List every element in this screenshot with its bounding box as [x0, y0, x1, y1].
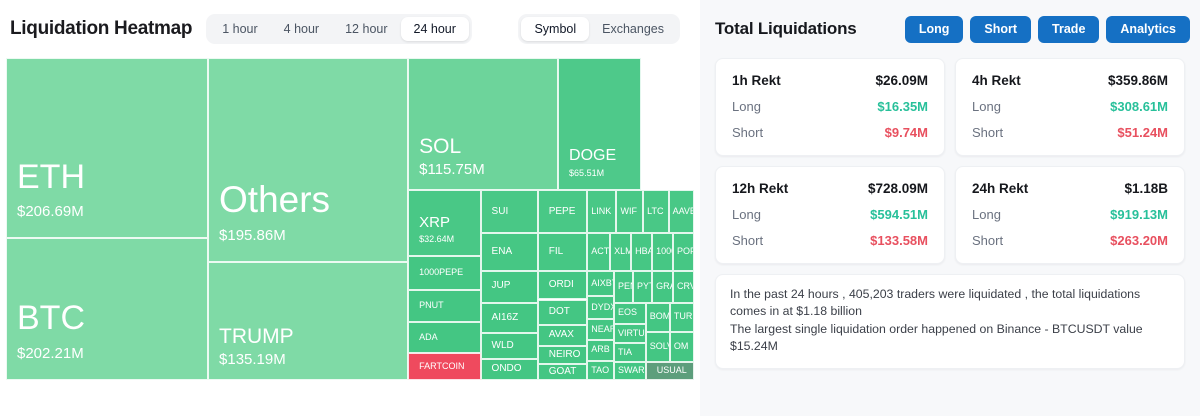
treemap-tile-xrp[interactable]: XRP$32.64M [408, 190, 480, 256]
treemap-tile-name: XRP [419, 215, 469, 231]
treemap-tile-name: GOAT [549, 367, 577, 378]
treemap-tile-eos[interactable]: EOS [614, 303, 646, 324]
treemap-tile-name: DOGE [569, 148, 630, 165]
treemap-tile-name: ORDI [549, 280, 577, 291]
rekt-card-row: Short$9.74M [732, 125, 928, 140]
treemap-tile-name: SUI [492, 207, 527, 218]
rekt-card-row: 1h Rekt$26.09M [732, 73, 928, 88]
treemap-tile-act[interactable]: ACT [587, 233, 610, 270]
treemap-tile-ena[interactable]: ENA [481, 233, 538, 270]
treemap-tile-name: SOLV [650, 342, 666, 351]
treemap-tile-pengu[interactable]: PENGU [614, 271, 633, 303]
treemap-tile-name: GRASS [656, 282, 669, 291]
liquidation-dashboard: Liquidation Heatmap 1 hour4 hour12 hour2… [0, 0, 1200, 416]
rekt-card-4h[interactable]: 4h Rekt$359.86MLong$308.61MShort$51.24M [955, 58, 1185, 156]
treemap-tile-name: FIL [549, 247, 577, 258]
page-title: Liquidation Heatmap [10, 18, 192, 40]
rekt-card-row: Short$133.58M [732, 233, 928, 248]
treemap-tile-name: 1000PEPE [419, 268, 469, 277]
treemap-tile-jup[interactable]: JUP [481, 271, 538, 303]
rekt-card-row: Long$594.51M [732, 207, 928, 222]
summary-line-1: In the past 24 hours , 405,203 traders w… [730, 286, 1170, 321]
rekt-card-short-label: Short [972, 125, 1003, 140]
treemap-tile-name: DOT [549, 307, 577, 318]
treemap-tile-name: PNUT [419, 301, 469, 310]
rekt-card-12h[interactable]: 12h Rekt$728.09MLong$594.51MShort$133.58… [715, 166, 945, 264]
treemap-tile-sui[interactable]: SUI [481, 190, 538, 233]
rekt-card-title: 1h Rekt [732, 73, 781, 88]
treemap-tile-name: OM [674, 342, 690, 351]
treemap-tile-ondo[interactable]: ONDO [481, 359, 538, 380]
analytics-button[interactable]: Analytics [1106, 16, 1190, 43]
treemap-tile-name: VIRTUAL [618, 329, 642, 338]
long-button[interactable]: Long [905, 16, 964, 43]
treemap-tile-tao[interactable]: TAO [587, 361, 614, 380]
treemap-tile-value: $202.21M [17, 345, 197, 363]
rekt-card-short-value: $9.74M [885, 125, 928, 140]
treemap-tile-doge[interactable]: DOGE$65.51M [558, 58, 641, 190]
rekt-card-row: Long$16.35M [732, 99, 928, 114]
rekt-card-title: 12h Rekt [732, 181, 788, 196]
timeframe-tab-4-hour[interactable]: 4 hour [271, 17, 332, 41]
treemap-tile-swarms[interactable]: SWARMS [614, 362, 646, 380]
treemap-tile-wif[interactable]: WIF [616, 190, 643, 233]
treemap-tile-dydx[interactable]: DYDX [587, 296, 614, 319]
rekt-card-long-label: Long [732, 207, 761, 222]
treemap-tile-bome[interactable]: BOME [646, 303, 670, 332]
rekt-card-row: 24h Rekt$1.18B [972, 181, 1168, 196]
rekt-card-1h[interactable]: 1h Rekt$26.09MLong$16.35MShort$9.74M [715, 58, 945, 156]
rekt-card-grid: 1h Rekt$26.09MLong$16.35MShort$9.74M4h R… [710, 58, 1190, 264]
rekt-card-total: $1.18B [1124, 181, 1168, 196]
treemap-tile-fil[interactable]: FIL [538, 233, 588, 270]
treemap-tile-value: $115.75M [419, 161, 547, 179]
treemap-tile-wld[interactable]: WLD [481, 333, 538, 359]
treemap-tile-others[interactable]: Others$195.86M [208, 58, 408, 262]
rekt-card-row: Short$51.24M [972, 125, 1168, 140]
rekt-card-short-label: Short [732, 125, 763, 140]
treemap-tile-aixbt[interactable]: AIXBT [587, 271, 614, 297]
treemap-tile-name: WIF [620, 207, 639, 216]
rekt-card-total: $26.09M [875, 73, 928, 88]
treemap-tile-name: PYTH [637, 282, 648, 291]
treemap-tile-link[interactable]: LINK [587, 190, 616, 233]
treemap-tile-name: LTC [647, 207, 664, 216]
liquidations-title: Total Liquidations [715, 19, 857, 39]
treemap-tile-name: NEIRO [549, 350, 577, 361]
treemap-tile-name: AI16Z [492, 313, 527, 324]
treemap-tile-name: ETH [17, 160, 197, 196]
view-mode-tab-symbol[interactable]: Symbol [521, 17, 589, 41]
treemap-tile-name: TRUMP [219, 326, 397, 348]
rekt-card-short-value: $133.58M [870, 233, 928, 248]
treemap-tile-name: SOL [419, 136, 547, 158]
treemap-tile-aave[interactable]: AAVE [669, 190, 694, 233]
treemap-tile-value: $206.69M [17, 203, 197, 221]
treemap-tile-hbar[interactable]: HBAR [631, 233, 652, 270]
heatmap-panel: Liquidation Heatmap 1 hour4 hour12 hour2… [0, 0, 700, 416]
rekt-card-row: 12h Rekt$728.09M [732, 181, 928, 196]
treemap-tile-name: POPCAT [677, 247, 690, 256]
treemap-tile-pnut[interactable]: PNUT [408, 290, 480, 322]
treemap-tile-name: AIXBT [591, 279, 610, 288]
timeframe-tab-12-hour[interactable]: 12 hour [332, 17, 400, 41]
treemap-tile-ai16z[interactable]: AI16Z [481, 303, 538, 334]
treemap-tile-name: TAO [591, 366, 610, 375]
treemap-tile-name: FARTCOIN [419, 362, 469, 371]
treemap-tile-name: WLD [492, 341, 527, 352]
treemap-tile-goat[interactable]: GOAT [538, 364, 588, 380]
treemap-tile-arb[interactable]: ARB [587, 340, 614, 361]
short-button[interactable]: Short [970, 16, 1031, 43]
treemap-tile-trump[interactable]: TRUMP$135.19M [208, 262, 408, 380]
treemap: ETH$206.69MBTC$202.21MOthers$195.86MTRUM… [6, 58, 694, 380]
rekt-card-24h[interactable]: 24h Rekt$1.18BLong$919.13MShort$263.20M [955, 166, 1185, 264]
treemap-tile-name: BTC [17, 301, 197, 337]
treemap-tile-value: $65.51M [569, 168, 630, 179]
treemap-tile-name: HBAR [635, 247, 648, 256]
treemap-tile-name: JUP [492, 281, 527, 292]
treemap-tile-ordi[interactable]: ORDI [538, 271, 588, 300]
treemap-tile-name: 1000SHIB [656, 247, 669, 256]
treemap-tile-name: TURBO [674, 312, 690, 321]
treemap-tile-name: CRV [677, 282, 690, 291]
treemap-tile-name: TIA [618, 348, 642, 357]
view-mode-tabs: SymbolExchanges [518, 14, 680, 44]
rekt-card-long-value: $308.61M [1110, 99, 1168, 114]
treemap-tile-name: Others [219, 181, 397, 220]
liquidations-header: Total Liquidations LongShortTradeAnalyti… [710, 0, 1190, 58]
treemap-tile-dot[interactable]: DOT [538, 300, 588, 326]
treemap-tile-name: ONDO [492, 364, 527, 375]
rekt-card-short-value: $263.20M [1110, 233, 1168, 248]
rekt-card-long-label: Long [972, 207, 1001, 222]
treemap-tile-name: ACT [591, 247, 606, 256]
rekt-card-short-value: $51.24M [1117, 125, 1168, 140]
treemap-tile-avax[interactable]: AVAX [538, 325, 588, 346]
rekt-card-long-value: $594.51M [870, 207, 928, 222]
treemap-tile-1000pepe[interactable]: 1000PEPE [408, 256, 480, 290]
rekt-card-row: Long$308.61M [972, 99, 1168, 114]
treemap-tile-name: BOME [650, 312, 666, 321]
treemap-tile-name: ARB [591, 345, 610, 354]
summary-line-2: The largest single liquidation order hap… [730, 321, 1170, 356]
treemap-tile-value: $135.19M [219, 351, 397, 369]
treemap-tile-om[interactable]: OM [670, 332, 694, 362]
trade-button[interactable]: Trade [1038, 16, 1099, 43]
liquidations-panel: Total Liquidations LongShortTradeAnalyti… [700, 0, 1200, 416]
treemap-tile-popcat[interactable]: POPCAT [673, 233, 694, 270]
rekt-card-long-value: $919.13M [1110, 207, 1168, 222]
treemap-tile-name: USUAL [657, 366, 683, 375]
rekt-card-total: $728.09M [868, 181, 928, 196]
treemap-tile-fartcoin[interactable]: FARTCOIN [408, 353, 480, 380]
treemap-tile-name: DYDX [591, 303, 610, 312]
treemap-tile-name: AVAX [549, 330, 577, 341]
rekt-card-long-label: Long [972, 99, 1001, 114]
treemap-tile-usual[interactable]: USUAL [646, 362, 694, 380]
treemap-tile-name: PEPE [549, 207, 577, 218]
treemap-tile-crv[interactable]: CRV [673, 271, 694, 303]
treemap-tile-name: NEAR [591, 325, 610, 334]
treemap-tile-btc[interactable]: BTC$202.21M [6, 238, 208, 380]
treemap-tile-tia[interactable]: TIA [614, 343, 646, 362]
treemap-tile-neiro[interactable]: NEIRO [538, 346, 588, 364]
treemap-tile-grass[interactable]: GRASS [652, 271, 673, 303]
treemap-tile-ada[interactable]: ADA [408, 322, 480, 353]
view-mode-tab-exchanges[interactable]: Exchanges [589, 17, 677, 41]
treemap-tile-value: $195.86M [219, 227, 397, 245]
treemap-tile-name: XLM [614, 247, 627, 256]
treemap-tile-name: ADA [419, 333, 469, 342]
treemap-tile-name: PENGU [618, 282, 629, 291]
rekt-card-title: 4h Rekt [972, 73, 1021, 88]
rekt-card-row: Short$263.20M [972, 233, 1168, 248]
rekt-card-row: Long$919.13M [972, 207, 1168, 222]
rekt-card-title: 24h Rekt [972, 181, 1028, 196]
summary-box: In the past 24 hours , 405,203 traders w… [715, 274, 1185, 369]
heatmap-header: Liquidation Heatmap 1 hour4 hour12 hour2… [0, 0, 700, 58]
rekt-card-long-label: Long [732, 99, 761, 114]
action-button-row: LongShortTradeAnalytics [905, 16, 1190, 43]
rekt-card-short-label: Short [972, 233, 1003, 248]
treemap-tile-near[interactable]: NEAR [587, 319, 614, 340]
rekt-card-long-value: $16.35M [877, 99, 928, 114]
treemap-tile-sol[interactable]: SOL$115.75M [408, 58, 558, 190]
treemap-tile-name: LINK [591, 207, 612, 216]
treemap-tile-pyth[interactable]: PYTH [633, 271, 652, 303]
treemap-tile-xlm[interactable]: XLM [610, 233, 631, 270]
treemap-tile-name: AAVE [673, 207, 690, 216]
rekt-card-row: 4h Rekt$359.86M [972, 73, 1168, 88]
treemap-tile-name: EOS [618, 308, 642, 317]
treemap-tile-pepe[interactable]: PEPE [538, 190, 588, 233]
treemap-tile-turbo[interactable]: TURBO [670, 303, 694, 332]
treemap-tile-value: $32.64M [419, 234, 469, 245]
treemap-tile-virtual[interactable]: VIRTUAL [614, 324, 646, 343]
rekt-card-total: $359.86M [1108, 73, 1168, 88]
treemap-tile-solv[interactable]: SOLV [646, 332, 670, 362]
timeframe-tabs: 1 hour4 hour12 hour24 hour [206, 14, 472, 44]
treemap-tile-name: SWARMS [618, 366, 642, 375]
treemap-tile-1000shib[interactable]: 1000SHIB [652, 233, 673, 270]
rekt-card-short-label: Short [732, 233, 763, 248]
treemap-tile-name: ENA [492, 247, 527, 258]
treemap-tile-eth[interactable]: ETH$206.69M [6, 58, 208, 238]
treemap-tile-ltc[interactable]: LTC [643, 190, 668, 233]
timeframe-tab-24-hour[interactable]: 24 hour [401, 17, 469, 41]
timeframe-tab-1-hour[interactable]: 1 hour [209, 17, 270, 41]
